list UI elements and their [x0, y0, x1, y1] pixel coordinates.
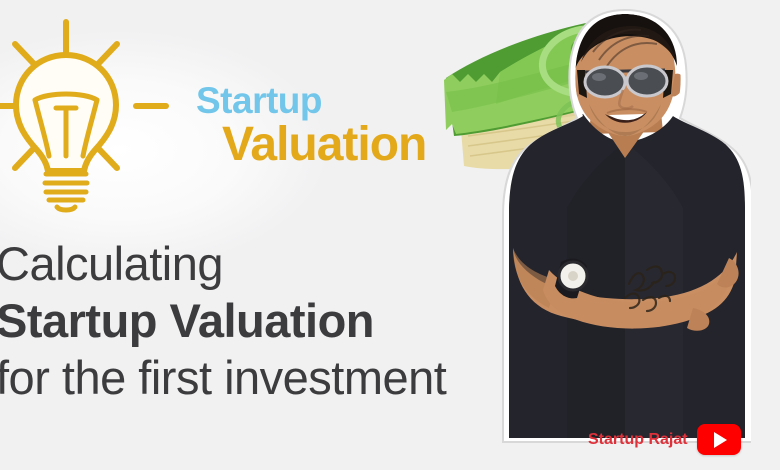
headline-line-2: Startup Valuation [0, 297, 446, 344]
brand-badge[interactable]: Startup Rajat [588, 424, 741, 455]
brand-name-label: Startup Rajat [588, 431, 688, 449]
play-triangle-icon [714, 432, 727, 448]
logo-line-startup: Startup [196, 82, 426, 119]
headline-block: Calculating Startup Valuation for the fi… [0, 240, 446, 401]
headline-line-3: for the first investment [0, 354, 446, 401]
logo-wordmark: Startup Valuation [196, 82, 426, 169]
presenter-cutout [497, 8, 751, 444]
lightbulb-icon [0, 8, 184, 213]
thumbnail-canvas: Startup Valuation $ $ [0, 0, 780, 470]
logo-line-valuation: Valuation [222, 121, 426, 169]
headline-line-1: Calculating [0, 240, 446, 287]
youtube-button[interactable] [697, 424, 741, 455]
